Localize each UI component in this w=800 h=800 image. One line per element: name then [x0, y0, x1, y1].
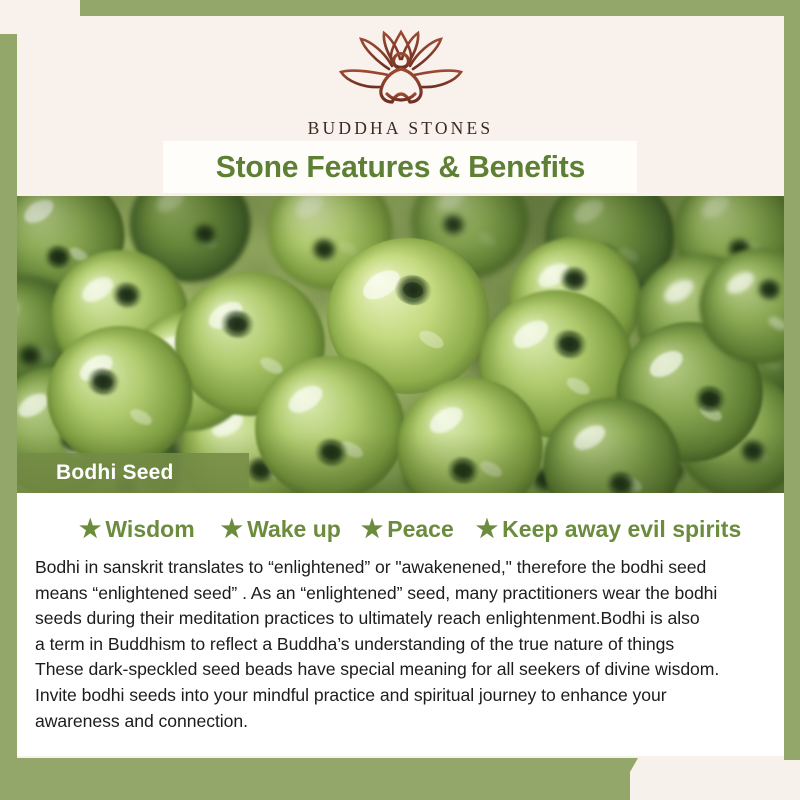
star-icon: ★ — [476, 517, 498, 542]
star-icon: ★ — [79, 517, 101, 542]
frame-border-right — [784, 0, 800, 760]
brand-name: BUDDHA STONES — [308, 118, 494, 139]
description-text: Bodhi in sanskrit translates to “enlight… — [35, 555, 775, 734]
benefit-label: Wake up — [247, 516, 341, 543]
description-line: seeds during their meditation practices … — [35, 606, 775, 632]
star-icon: ★ — [221, 517, 243, 542]
description-line: Invite bodhi seeds into your mindful pra… — [35, 683, 775, 709]
hero-label-banner: Bodhi Seed — [0, 453, 249, 493]
description-line: Bodhi in sanskrit translates to “enlight… — [35, 555, 775, 581]
hero-label-text: Bodhi Seed — [56, 461, 174, 485]
benefit-item-keep-away-evil-spirits: ★ Keep away evil spirits — [476, 516, 742, 543]
star-icon: ★ — [361, 517, 383, 542]
brand-logo: BUDDHA STONES — [17, 28, 784, 139]
hero-image — [0, 196, 784, 493]
bodhi-seed-photo — [0, 196, 784, 493]
benefit-item-peace: ★ Peace — [361, 516, 454, 543]
benefit-label: Keep away evil spirits — [502, 516, 741, 543]
lotus-meditation-icon — [317, 28, 485, 112]
poster-root: BUDDHA STONES Stone Features & Benefits … — [0, 0, 800, 800]
description-line: a term in Buddhism to reflect a Buddha’s… — [35, 632, 775, 658]
frame-border-top — [80, 0, 800, 16]
benefits-row: ★ Wisdom ★ Wake up ★ Peace ★ Keep away e… — [79, 516, 741, 543]
page-title-banner: Stone Features & Benefits — [163, 141, 637, 193]
benefit-label: Wisdom — [105, 516, 194, 543]
frame-border-bottom — [0, 758, 630, 800]
benefit-label: Peace — [387, 516, 454, 543]
page-title: Stone Features & Benefits — [215, 149, 584, 185]
content-panel: ★ Wisdom ★ Wake up ★ Peace ★ Keep away e… — [17, 493, 784, 756]
description-line: These dark-speckled seed beads have spec… — [35, 657, 775, 683]
frame-bottom-cream-fill — [614, 758, 800, 800]
description-line: awareness and connection. — [35, 709, 775, 735]
description-line: means “enlightened seed” . As an “enligh… — [35, 581, 775, 607]
frame-border-left — [0, 34, 17, 800]
benefit-item-wake-up: ★ Wake up — [221, 516, 341, 543]
benefit-item-wisdom: ★ Wisdom — [79, 516, 195, 543]
